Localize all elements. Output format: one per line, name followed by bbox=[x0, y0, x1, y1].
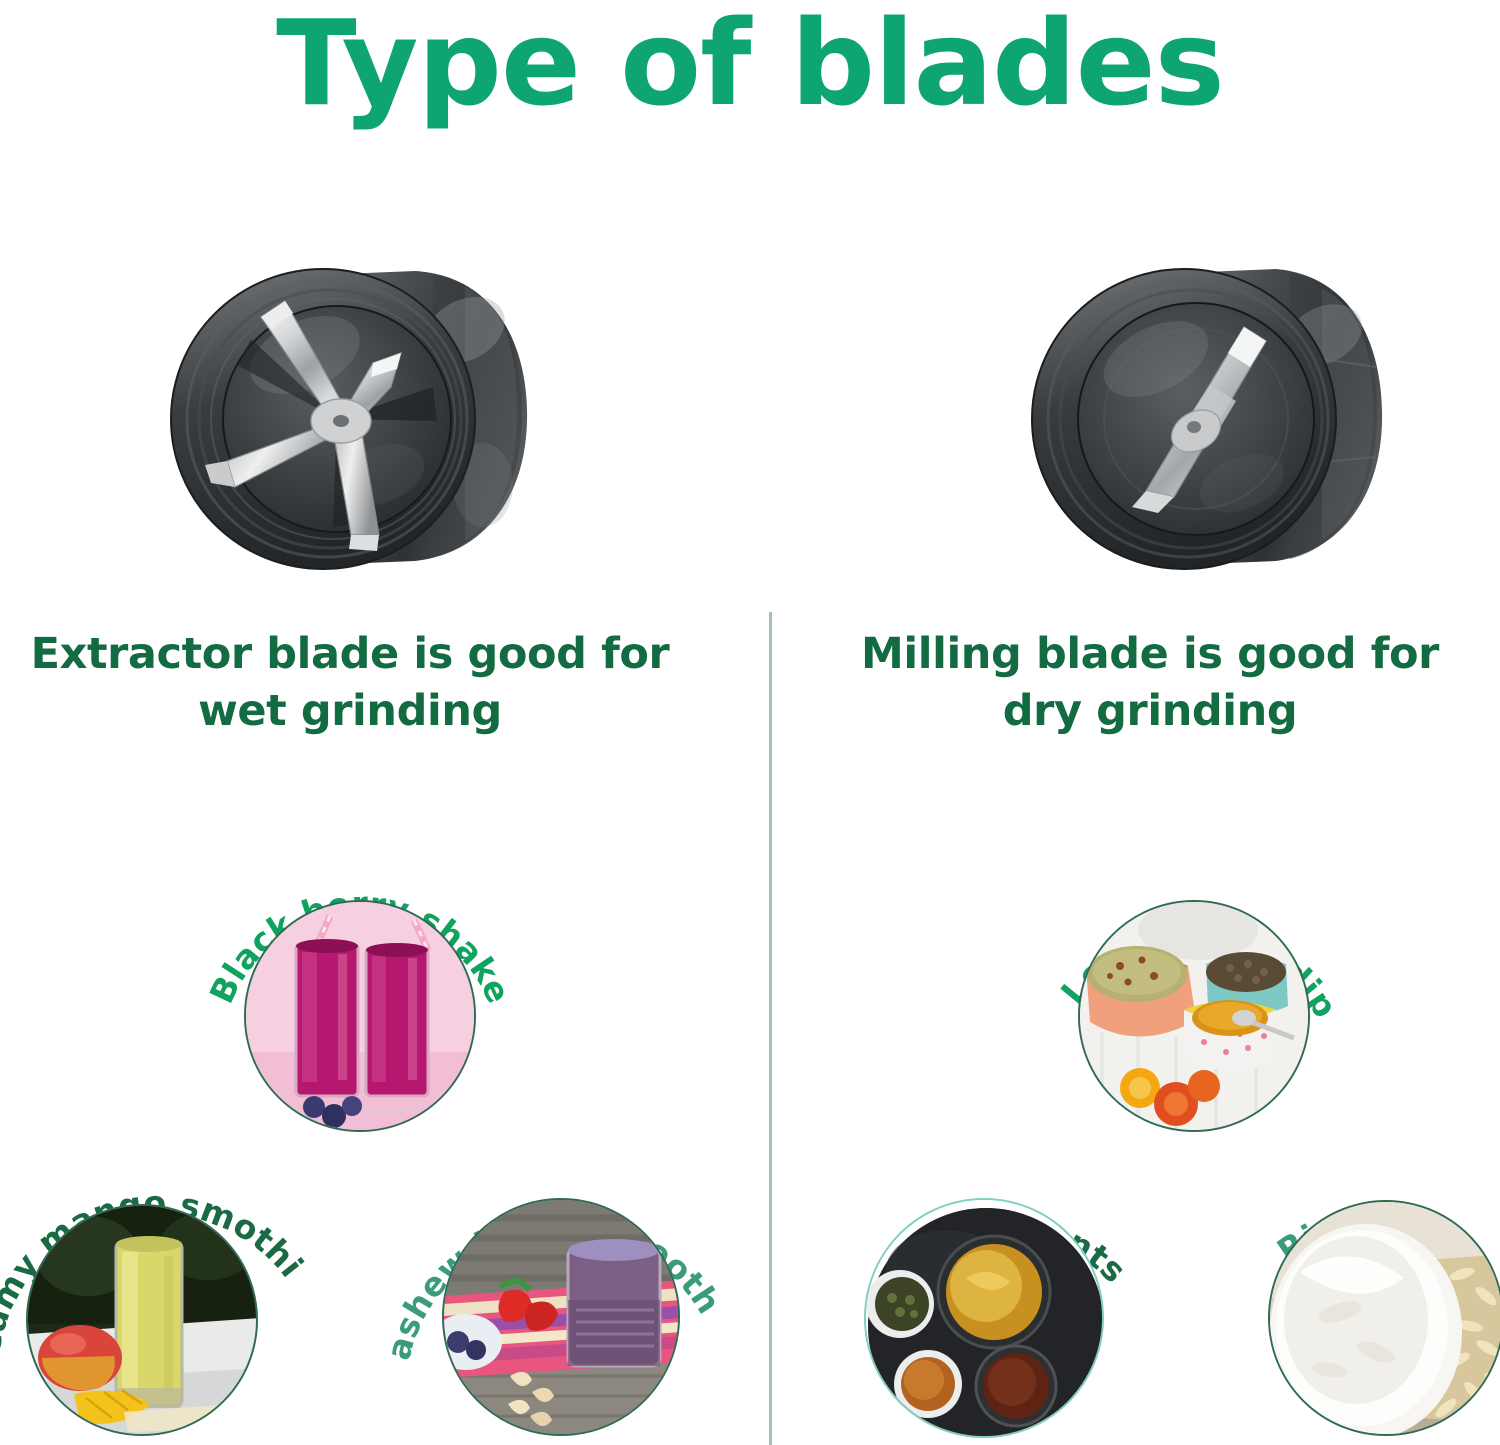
food-card-rice-flour: Rice flour bbox=[1232, 1150, 1500, 1445]
page-title: Type of blades bbox=[0, 0, 1500, 132]
extractor-caption-line2: wet grinding bbox=[0, 683, 700, 740]
infographic-page: Type of blades bbox=[0, 0, 1500, 1445]
condiments-photo bbox=[864, 1198, 1104, 1438]
cashew-berry-smoothie-photo bbox=[442, 1198, 680, 1436]
food-card-creamy-mango-smoothie: Creamy mango smothie bbox=[0, 1148, 332, 1445]
food-card-cashew-berry-smoothie: Cashew berry smoothie bbox=[392, 1148, 740, 1445]
creamy-mango-smoothie-photo bbox=[26, 1204, 258, 1436]
milling-caption: Milling blade is good for dry grinding bbox=[800, 626, 1500, 740]
extractor-caption: Extractor blade is good for wet grinding bbox=[0, 626, 700, 740]
milling-blade-photo bbox=[1028, 235, 1398, 595]
blackberry-shake-photo bbox=[244, 900, 476, 1132]
food-card-condiments: Condiments bbox=[842, 1150, 1172, 1445]
food-card-blackberry-shake: Black berry shake bbox=[200, 848, 520, 1148]
extractor-blade-photo bbox=[165, 235, 555, 595]
food-card-lentil-curry-dip: Lentil curry dip bbox=[1040, 844, 1350, 1144]
milling-caption-line2: dry grinding bbox=[800, 683, 1500, 740]
milling-caption-line1: Milling blade is good for bbox=[800, 626, 1500, 683]
rice-flour-photo bbox=[1268, 1200, 1500, 1436]
section-divider bbox=[769, 612, 772, 1445]
extractor-caption-line1: Extractor blade is good for bbox=[0, 626, 700, 683]
lentil-curry-dip-photo bbox=[1078, 900, 1310, 1132]
